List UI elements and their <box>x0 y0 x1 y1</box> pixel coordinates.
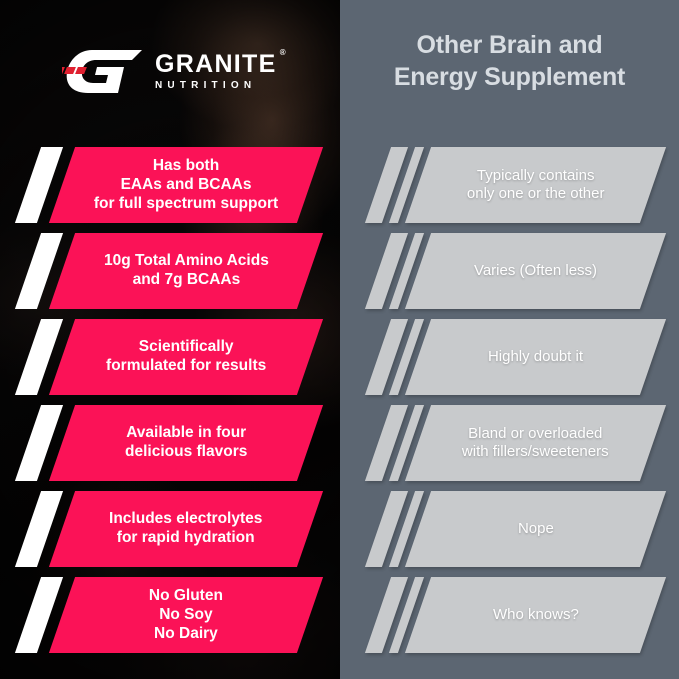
other-column-header-line2: Energy Supplement <box>354 62 665 94</box>
granite-banner: No Gluten No Soy No Dairy <box>49 577 323 653</box>
granite-banner: 10g Total Amino Acids and 7g BCAAs <box>49 233 323 309</box>
granite-banner-text: Available in four delicious flavors <box>115 424 257 462</box>
logo-wordmark: GRANITE® NUTRITION <box>155 52 277 93</box>
granite-row: Has both EAAs and BCAAs for full spectru… <box>0 142 340 228</box>
comparison-infographic: GRANITE® NUTRITION Has both EAAs and BCA… <box>0 0 679 679</box>
granite-row: 10g Total Amino Acids and 7g BCAAs <box>0 228 340 314</box>
other-column-header-line1: Other Brain and <box>354 30 665 62</box>
other-banner: Who knows? <box>405 577 666 653</box>
granite-banner-text: Includes electrolytes for rapid hydratio… <box>99 510 272 548</box>
other-banner-text: Highly doubt it <box>478 348 593 366</box>
other-banner-text: Who knows? <box>483 606 589 624</box>
other-banner: Typically contains only one or the other <box>405 147 666 223</box>
granite-row: No Gluten No Soy No Dairy <box>0 572 340 658</box>
other-feature-rows: Typically contains only one or the other… <box>340 142 679 658</box>
granite-banner-text: Has both EAAs and BCAAs for full spectru… <box>84 157 288 214</box>
other-row: Who knows? <box>340 572 679 658</box>
other-banner-text: Bland or overloaded with fillers/sweeten… <box>452 425 619 462</box>
registered-trademark-icon: ® <box>280 49 286 57</box>
other-banner: Bland or overloaded with fillers/sweeten… <box>405 405 666 481</box>
granite-row: Includes electrolytes for rapid hydratio… <box>0 486 340 572</box>
granite-feature-rows: Has both EAAs and BCAAs for full spectru… <box>0 142 340 658</box>
granite-nutrition-logo: GRANITE® NUTRITION <box>62 44 282 100</box>
logo-tagline: NUTRITION <box>155 81 277 91</box>
other-row: Nope <box>340 486 679 572</box>
other-supplement-column: Other Brain and Energy Supplement Typica… <box>340 0 679 679</box>
other-banner: Highly doubt it <box>405 319 666 395</box>
granite-banner: Has both EAAs and BCAAs for full spectru… <box>49 147 323 223</box>
granite-banner-text: 10g Total Amino Acids and 7g BCAAs <box>94 252 279 290</box>
granite-row: Scientifically formulated for results <box>0 314 340 400</box>
granite-column: GRANITE® NUTRITION Has both EAAs and BCA… <box>0 0 340 679</box>
other-row: Highly doubt it <box>340 314 679 400</box>
granite-banner: Includes electrolytes for rapid hydratio… <box>49 491 323 567</box>
granite-banner: Available in four delicious flavors <box>49 405 323 481</box>
other-banner-text: Nope <box>508 520 564 538</box>
granite-g-mark-icon <box>62 47 146 97</box>
granite-banner-text: No Gluten No Soy No Dairy <box>139 587 233 644</box>
other-row: Bland or overloaded with fillers/sweeten… <box>340 400 679 486</box>
granite-row: Available in four delicious flavors <box>0 400 340 486</box>
other-banner-text: Typically contains only one or the other <box>457 167 615 204</box>
other-row: Typically contains only one or the other <box>340 142 679 228</box>
other-banner-text: Varies (Often less) <box>464 262 607 280</box>
other-column-header: Other Brain and Energy Supplement <box>340 30 679 94</box>
other-row: Varies (Often less) <box>340 228 679 314</box>
other-banner: Varies (Often less) <box>405 233 666 309</box>
granite-banner-text: Scientifically formulated for results <box>96 338 276 376</box>
other-banner: Nope <box>405 491 666 567</box>
logo-brand-name: GRANITE® <box>155 52 277 77</box>
granite-banner: Scientifically formulated for results <box>49 319 323 395</box>
